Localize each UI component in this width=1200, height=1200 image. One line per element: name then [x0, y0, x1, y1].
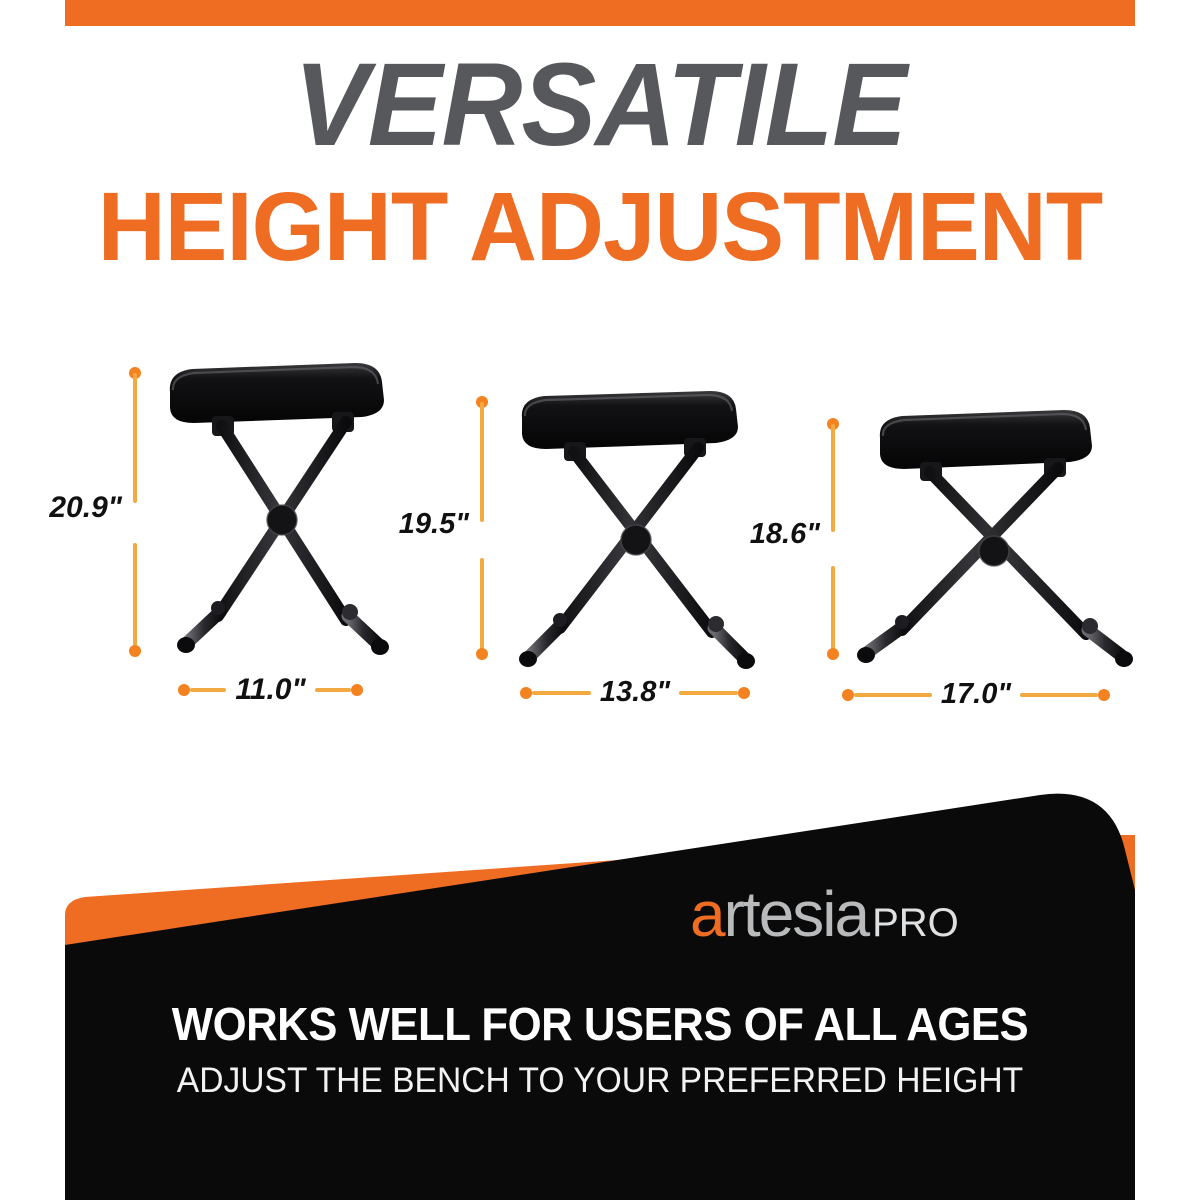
- bottom-shapes: [0, 740, 1200, 1200]
- headline-block: VERSATILE HEIGHT ADJUSTMENT: [0, 48, 1200, 275]
- dimension-line-upper: [480, 402, 484, 522]
- footer-subline: ADJUST THE BENCH TO YOUR PREFERRED HEIGH…: [86, 1062, 1113, 1101]
- dimension-line-left: [854, 693, 932, 697]
- bench-mid-height-label: 19.5": [399, 508, 469, 541]
- horizontal-dimension-bench-low: 11.0": [178, 675, 363, 705]
- black-content-shape: [65, 794, 1135, 1200]
- dimension-dot-right: [1098, 689, 1110, 701]
- bottom-graphic-panel: [0, 740, 1200, 1200]
- bench-group-low: 20.9": [110, 350, 410, 730]
- horizontal-dimension-bench-high: 17.0": [842, 680, 1110, 709]
- dimension-line-left: [190, 688, 226, 692]
- vertical-dimension-bench-high: 18.6": [826, 418, 840, 666]
- dimension-line-upper: [831, 424, 835, 532]
- bench-high-height-label: 18.6": [750, 518, 820, 551]
- dimension-dot-left: [178, 684, 190, 696]
- dimension-line-lower: [831, 566, 835, 654]
- dimension-dot-bottom: [827, 648, 839, 660]
- dimension-dot-right: [351, 684, 363, 696]
- bench-low-width-label: 11.0": [226, 675, 314, 705]
- dimension-dot-bottom: [476, 648, 488, 660]
- bench-comparison-row: 20.9": [0, 350, 1200, 730]
- dimension-line-lower: [480, 558, 484, 654]
- brand-logo: artesiaPRO: [690, 882, 959, 946]
- vertical-dimension-bench-low: 20.9": [128, 367, 142, 657]
- dimension-line-right: [315, 688, 351, 692]
- dimension-line-right: [1020, 693, 1098, 697]
- vertical-dimension-bench-mid: 19.5": [475, 396, 489, 664]
- bench-illustration-high: [848, 408, 1178, 698]
- headline-secondary: HEIGHT ADJUSTMENT: [18, 178, 1182, 275]
- marketing-banner: VERSATILE HEIGHT ADJUSTMENT 20.9": [0, 0, 1200, 1200]
- headline-primary: VERSATILE: [30, 48, 1170, 164]
- bench-group-high: 18.6": [790, 350, 1120, 730]
- dimension-line-upper: [133, 373, 137, 503]
- bench-high-width-label: 17.0": [932, 680, 1020, 709]
- dimension-dot-left: [842, 689, 854, 701]
- dimension-line-lower: [133, 543, 137, 651]
- logo-wordmark: rtesia: [724, 878, 869, 950]
- logo-accent-letter: a: [690, 878, 724, 950]
- top-accent-bar: [65, 0, 1135, 26]
- footer-headline: WORKS WELL FOR USERS OF ALL AGES: [92, 1000, 1109, 1048]
- logo-pro-suffix: PRO: [872, 901, 959, 945]
- horizontal-dimension-bench-mid: 13.8": [520, 678, 750, 707]
- bench-group-mid: 19.5": [460, 350, 760, 730]
- bench-mid-width-label: 13.8": [591, 678, 679, 707]
- bench-low-height-label: 20.9": [49, 491, 122, 525]
- dimension-line-right: [679, 691, 738, 695]
- dimension-dot-bottom: [129, 645, 141, 657]
- footer-copy-block: WORKS WELL FOR USERS OF ALL AGES ADJUST …: [65, 1000, 1135, 1101]
- dimension-line-left: [532, 691, 591, 695]
- dimension-dot-right: [738, 687, 750, 699]
- dimension-dot-left: [520, 687, 532, 699]
